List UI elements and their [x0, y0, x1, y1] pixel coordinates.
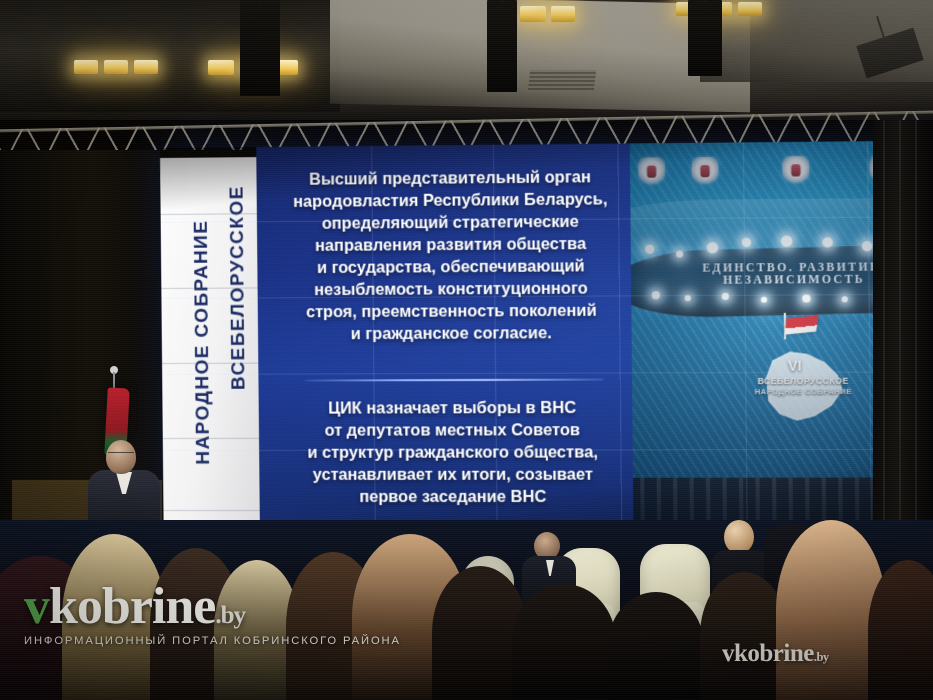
watermark-main: vkobrine.by ИНФОРМАЦИОННЫЙ ПОРТАЛ КОБРИН…: [24, 582, 401, 647]
glasses-icon: [108, 452, 134, 458]
text-line: строя, преемственность поколений: [272, 300, 632, 324]
watermark-brand-tld: .by: [215, 602, 245, 629]
text-line: ЦИК назначает выборы в ВНС: [273, 397, 633, 420]
ceiling-light: [520, 6, 546, 22]
photo-scene: ВСЕБЕЛОРУССКОЕ НАРОДНОЕ СОБРАНИЕ: [0, 0, 933, 700]
wall-sidebar: ВСЕБЕЛОРУССКОЕ НАРОДНОЕ СОБРАНИЕ: [160, 157, 262, 530]
watermark-corner-brand: vkobrine: [722, 640, 814, 667]
led-video-wall: ВСЕБЕЛОРУССКОЕ НАРОДНОЕ СОБРАНИЕ: [160, 140, 933, 530]
watermark-brand-v: v: [24, 578, 49, 635]
watermark-corner-tld: .by: [814, 650, 829, 664]
ceiling-light: [738, 2, 762, 16]
sidebar-title-line2: НАРОДНОЕ СОБРАНИЕ: [192, 220, 213, 465]
text-line: первое заседание ВНС: [274, 486, 634, 508]
text-line: Высший представительный орган: [271, 166, 631, 191]
audience-silhouette: [700, 572, 788, 700]
ceiling-light: [208, 60, 234, 75]
hanging-speaker: [240, 0, 280, 96]
ceiling-light: [104, 60, 128, 74]
wall-content-board: ЕДИНСТВО. РАЗВИТИЕ. НЕЗАВИСИМОСТЬ VI ВСЕ…: [256, 140, 933, 530]
ceiling-light: [551, 6, 575, 22]
text-line: от депутатов местных Советов: [273, 419, 633, 442]
text-line: определяющий стратегические: [271, 210, 631, 235]
ceiling-dark-left: [0, 0, 340, 112]
watermark-brand: vkobrine.by: [24, 582, 401, 631]
text-block-primary: Высший представительный орган народовлас…: [271, 166, 632, 346]
watermark-brand-rest: kobrine: [49, 578, 215, 635]
ceiling-light: [74, 60, 98, 74]
hanging-speaker: [688, 0, 722, 76]
text-block-secondary: ЦИК назначает выборы в ВНС от депутатов …: [273, 397, 634, 509]
hanging-speaker: [487, 0, 517, 92]
text-line: и государства, обеспечивающий: [271, 255, 631, 279]
text-line: и структур гражданского общества,: [273, 441, 633, 464]
watermark-corner: vkobrine.by: [722, 640, 829, 668]
ceiling-light: [134, 60, 158, 74]
text-line: и гражданское согласие.: [272, 322, 632, 346]
text-line: народовластия Республики Беларусь,: [271, 188, 631, 213]
audience-silhouette: [512, 584, 616, 700]
audience-silhouette: [608, 592, 704, 700]
text-line: направления развития общества: [271, 233, 631, 258]
watermark-subtitle: ИНФОРМАЦИОННЫЙ ПОРТАЛ КОБРИНСКОГО РАЙОНА: [24, 635, 401, 647]
text-line: устанавливает их итоги, созывает: [273, 464, 633, 486]
ceiling-vent: [528, 70, 596, 92]
